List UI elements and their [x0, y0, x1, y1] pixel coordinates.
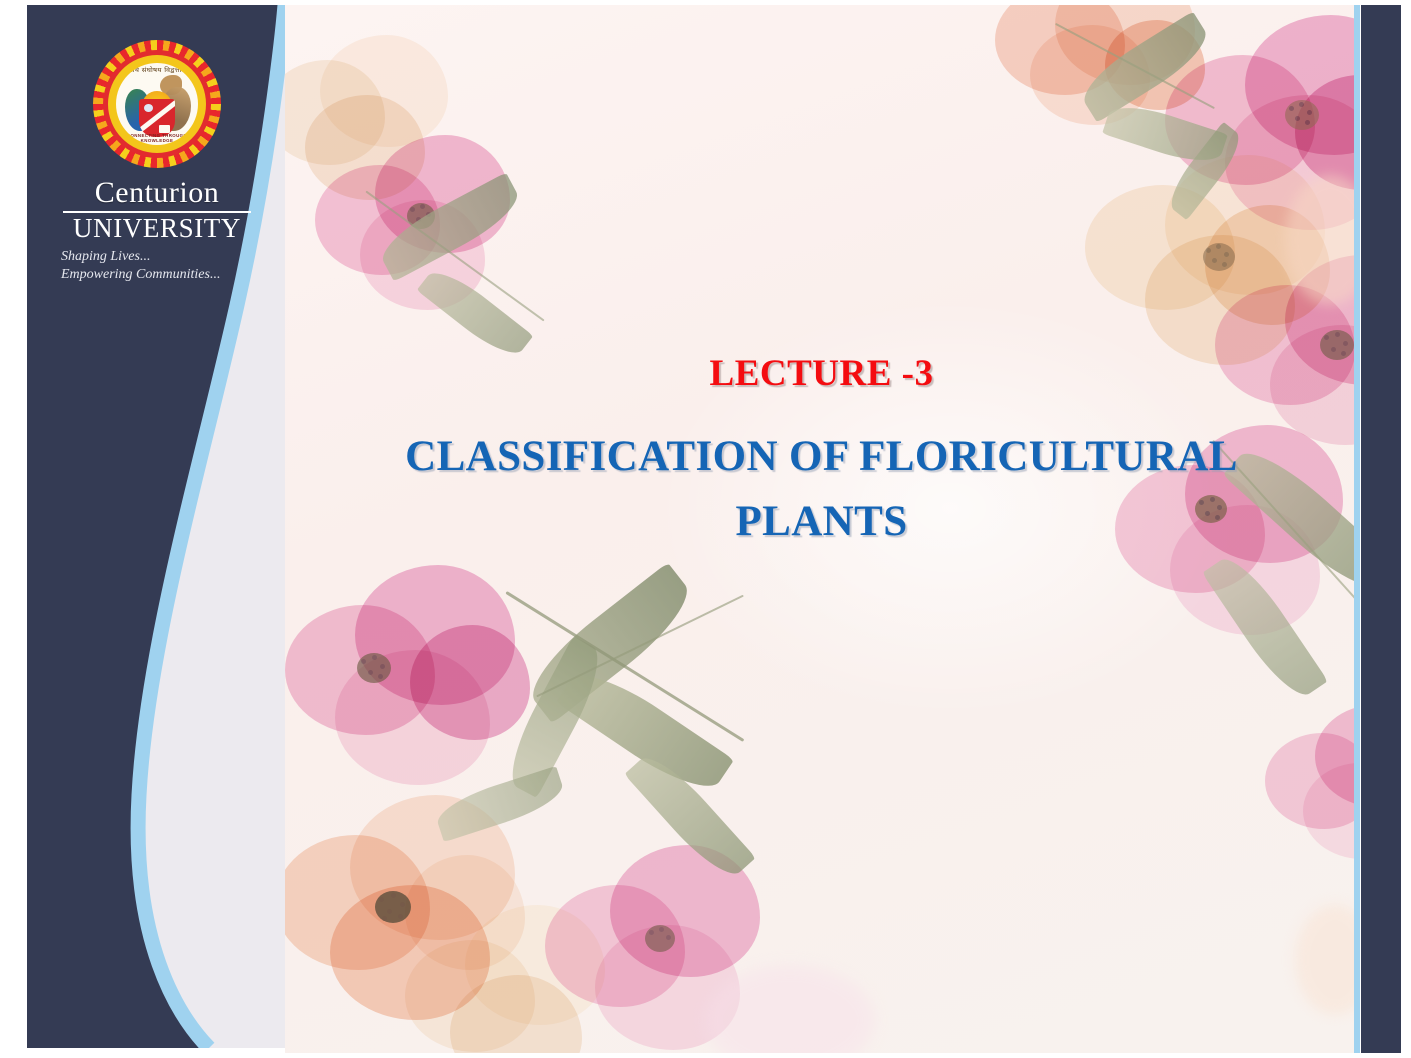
university-emblem-icon: आचार्य संघोषय विद्वत्तात् च CONNECTING T… — [93, 40, 221, 168]
title-block: LECTURE -3 CLASSIFICATION OF FLORICULTUR… — [285, 352, 1358, 554]
flower-pink-right-lower — [1265, 705, 1358, 865]
emblem-sanskrit-text: आचार्य संघोषय विद्वत्तात् च — [116, 66, 198, 74]
shield-icon — [139, 99, 175, 137]
tagline-line-2: Empowering Communities... — [57, 266, 257, 284]
tagline-line-1: Shaping Lives... — [57, 248, 257, 266]
slide-heading-line-2: PLANTS — [285, 490, 1358, 555]
emblem-motto-text: CONNECTING THROUGH KNOWLEDGE — [116, 133, 198, 143]
sidebar-panel: आचार्य संघोषय विद्वत्तात् च CONNECTING T… — [27, 5, 285, 1048]
flower-cream-left-upper — [285, 35, 455, 205]
lecture-label: LECTURE -3 — [285, 352, 1358, 395]
wordmark-centurion: Centurion — [57, 178, 257, 208]
wordmark-university: UNIVERSITY — [57, 215, 257, 242]
presentation-slide: आचार्य संघोषय विद्वत्तात् च CONNECTING T… — [0, 0, 1411, 1058]
slide-heading-line-1: CLASSIFICATION OF FLORICULTURAL — [405, 433, 1238, 480]
university-logo: आचार्य संघोषय विद्वत्तात् च CONNECTING T… — [57, 40, 257, 283]
slide-heading: CLASSIFICATION OF FLORICULTURAL PLANTS — [285, 425, 1358, 554]
flower-cream-bottom — [405, 905, 615, 1053]
speckle-dots-right — [1165, 635, 1245, 735]
right-navy-band — [1361, 5, 1401, 1053]
flower-pink-left-lower — [285, 565, 535, 795]
